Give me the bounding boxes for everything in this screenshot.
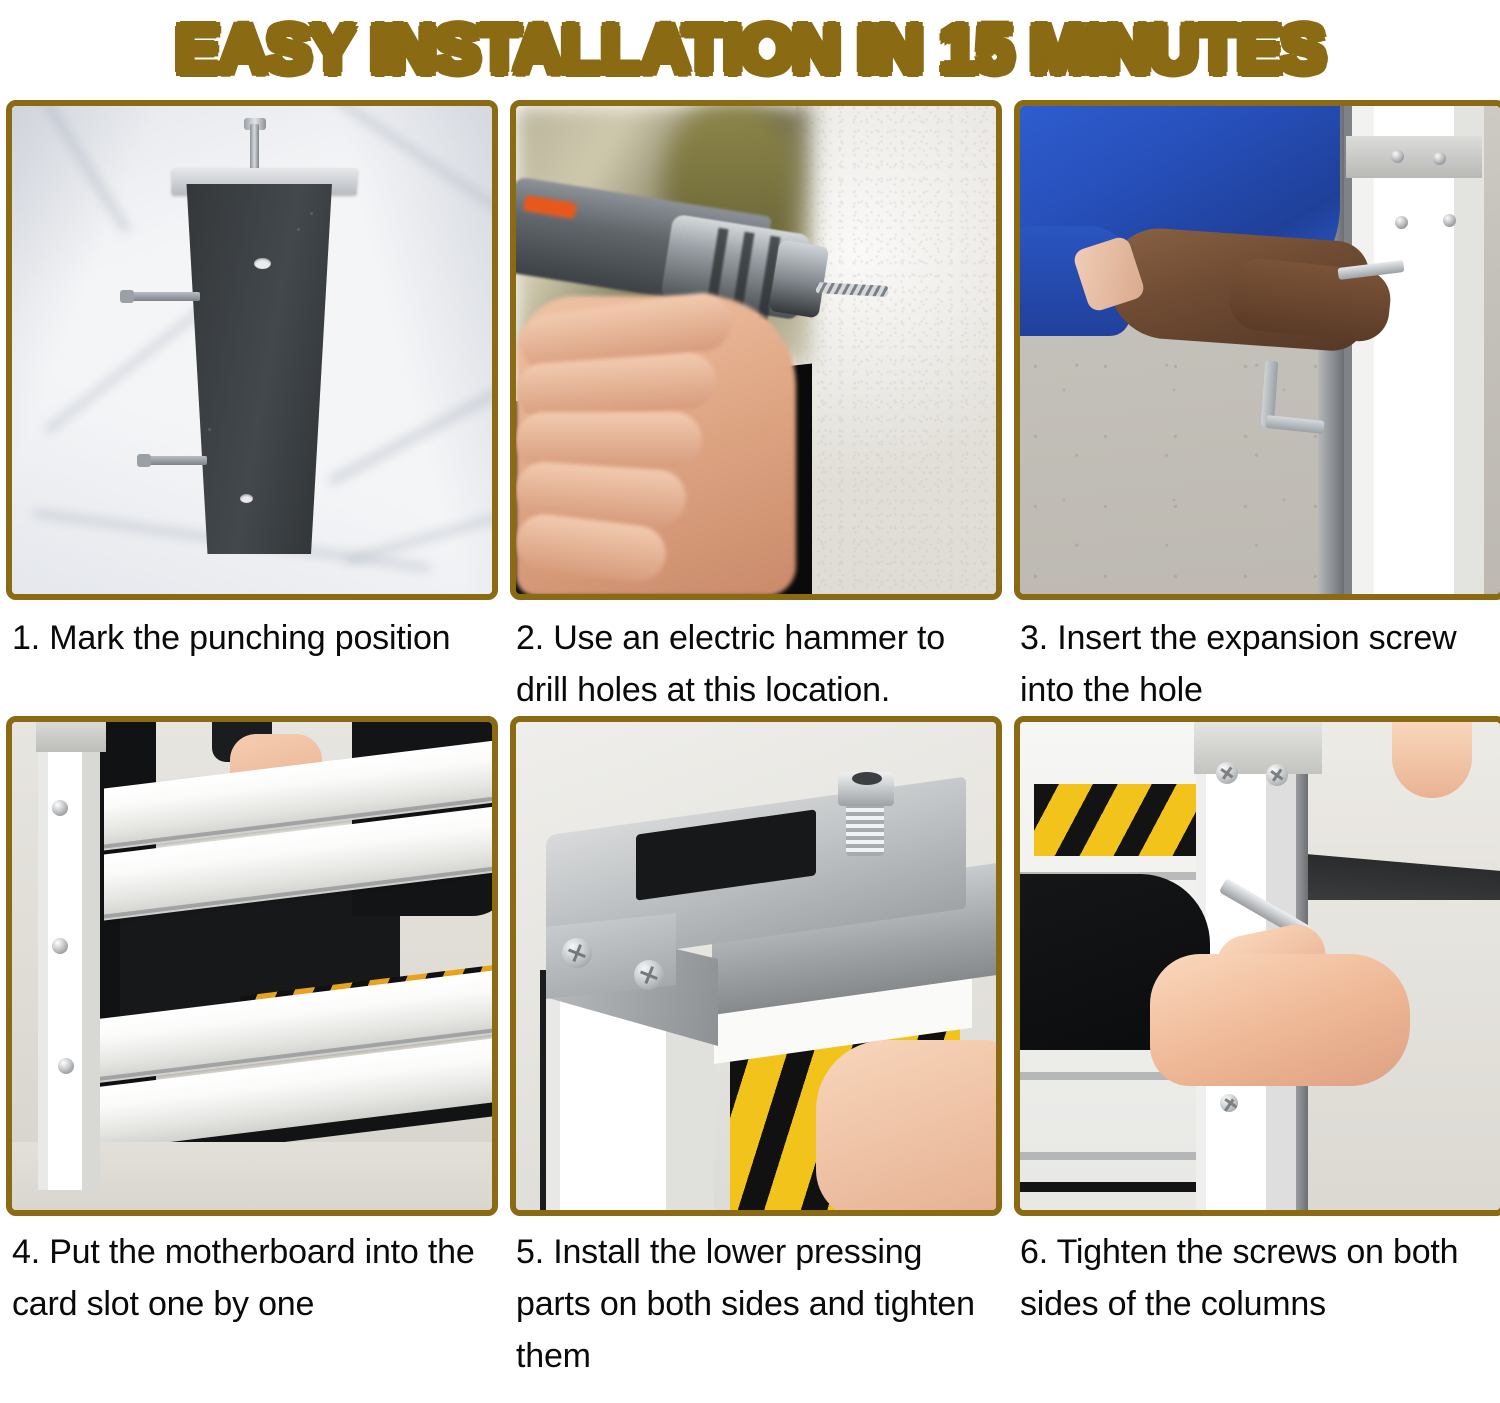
worker-inserting-expansion-screw-into-column-photo (1020, 106, 1500, 594)
sliding-flood-barrier-boards-into-card-slot-photo (12, 722, 492, 1210)
step-card-5: 5. Install the lower pressing parts on b… (510, 716, 1002, 1382)
step-card-6: 6. Tighten the screws on both sides of t… (1014, 716, 1500, 1382)
step-caption-2: 2. Use an electric hammer to drill holes… (510, 600, 1002, 716)
step-caption-4: 4. Put the motherboard into the card slo… (6, 1216, 498, 1330)
step-photo-frame-4 (6, 716, 498, 1216)
step-card-1: 1. Mark the punching position (6, 100, 498, 716)
step-card-3: 3. Insert the expansion screw into the h… (1014, 100, 1500, 716)
step-caption-1: 1. Mark the punching position (6, 600, 498, 664)
step-photo-frame-2 (510, 100, 1002, 600)
step-caption-6: 6. Tighten the screws on both sides of t… (1014, 1216, 1500, 1330)
step-caption-3: 3. Insert the expansion screw into the h… (1014, 600, 1500, 716)
step-photo-frame-1 (6, 100, 498, 600)
step-caption-5: 5. Install the lower pressing parts on b… (510, 1216, 1002, 1382)
step-card-2: 2. Use an electric hammer to drill holes… (510, 100, 1002, 716)
hand-tightening-screws-on-column-photo (1020, 722, 1500, 1210)
mounting-bracket-on-white-cloth-photo (12, 106, 492, 594)
step-photo-frame-6 (1014, 716, 1500, 1216)
step-photo-frame-5 (510, 716, 1002, 1216)
stainless-steel-pressing-clamp-with-thumb-bolt-photo (516, 722, 996, 1210)
step-card-4: 4. Put the motherboard into the card slo… (6, 716, 498, 1382)
banner: EASY INSTALLATION IN 15 MINUTES (0, 0, 1500, 100)
drilling-hole-in-wall-with-electric-hammer-photo (516, 106, 996, 594)
installation-steps-grid: 1. Mark the punching position (0, 100, 1500, 1382)
step-photo-frame-3 (1014, 100, 1500, 600)
page-title: EASY INSTALLATION IN 15 MINUTES (175, 15, 1324, 85)
